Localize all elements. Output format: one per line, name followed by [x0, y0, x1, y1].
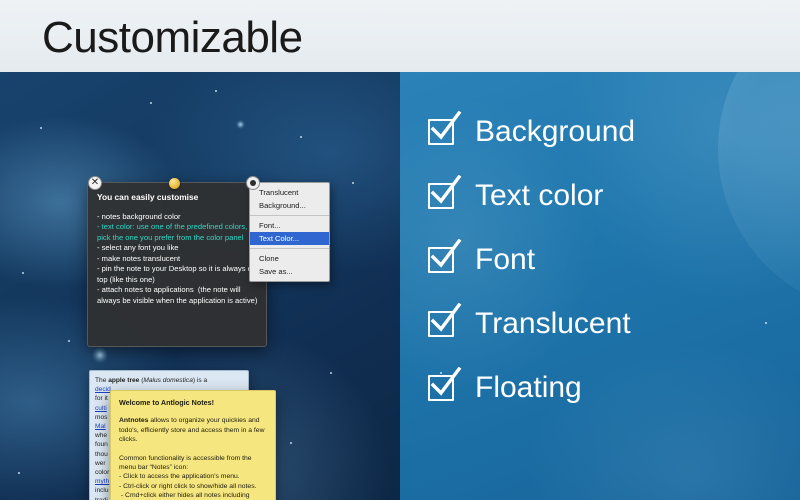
- yellow-note-title: Welcome to Antlogic Notes!: [119, 398, 267, 407]
- checklist-label: Translucent: [475, 307, 631, 341]
- checklist-item-floating[interactable]: Floating: [428, 356, 788, 420]
- bn-prefix: The: [95, 377, 108, 384]
- bn-suffix: ) is a: [193, 377, 207, 384]
- checklist-label: Background: [475, 115, 635, 149]
- checkbox-checked-icon[interactable]: [428, 247, 454, 273]
- checklist-label: Floating: [475, 371, 582, 405]
- yellow-note-paragraph: Antnotes allows to organize your quickie…: [119, 416, 267, 444]
- star-icon: [215, 90, 217, 92]
- menu-item-font[interactable]: Font...: [250, 219, 329, 232]
- menu-item-clone[interactable]: Clone: [250, 252, 329, 265]
- dark-note-window[interactable]: You can easily customise - notes backgro…: [87, 182, 267, 347]
- dark-note-title: You can easily customise: [97, 192, 258, 203]
- yellow-note-bullet: - Cmd+click either hides all notes inclu…: [119, 491, 267, 500]
- yellow-note-bullet: - Ctrl-click or right click to show/hide…: [119, 482, 267, 491]
- menu-item-text-color[interactable]: Text Color...: [250, 232, 329, 245]
- yellow-note-paragraph: Common functionality is accessible from …: [119, 454, 267, 473]
- bn-bold: apple tree: [108, 377, 139, 384]
- menu-item-save-as[interactable]: Save as...: [250, 265, 329, 278]
- yellow-note-window[interactable]: Welcome to Antlogic Notes! Antnotes allo…: [110, 390, 276, 500]
- gear-icon[interactable]: [246, 176, 260, 190]
- checklist-item-font[interactable]: Font: [428, 228, 788, 292]
- note-context-menu[interactable]: Translucent Background... Font... Text C…: [249, 182, 330, 282]
- dark-note-line: - attach notes to applications (the note…: [97, 285, 258, 306]
- star-icon: [150, 102, 152, 104]
- menu-item-background[interactable]: Background...: [250, 199, 329, 212]
- star-icon: [40, 127, 42, 129]
- checklist-label: Text color: [475, 179, 603, 213]
- star-glow-icon: [92, 347, 108, 363]
- dark-note-line: - notes background color: [97, 212, 258, 223]
- checklist-item-translucent[interactable]: Translucent: [428, 292, 788, 356]
- checkbox-checked-icon[interactable]: [428, 183, 454, 209]
- star-icon: [68, 340, 70, 342]
- checkbox-checked-icon[interactable]: [428, 119, 454, 145]
- star-glow-icon: [236, 120, 245, 129]
- yn-bold: Antnotes: [119, 417, 148, 424]
- checklist-item-text-color[interactable]: Text color: [428, 164, 788, 228]
- star-icon: [330, 372, 332, 374]
- stage: Background Text color Font: [0, 72, 800, 500]
- checkbox-checked-icon[interactable]: [428, 375, 454, 401]
- bn-italic: Malus domestica: [143, 377, 192, 384]
- blue-note-first-line: The apple tree (Malus domestica) is a: [95, 376, 243, 385]
- star-icon: [300, 136, 302, 138]
- yellow-note-bullet: - Click to access the application's menu…: [119, 472, 267, 481]
- checklist-label: Font: [475, 243, 535, 277]
- menu-item-translucent[interactable]: Translucent: [250, 186, 329, 199]
- app-window: Customizable: [0, 0, 800, 500]
- star-icon: [18, 472, 20, 474]
- star-icon: [22, 272, 24, 274]
- dark-note-line: - make notes translucent: [97, 254, 258, 265]
- menu-separator: [250, 248, 329, 249]
- dark-note-line: - text color: use one of the predefined …: [97, 222, 258, 243]
- dark-note-line: - pin the note to your Desktop so it is …: [97, 264, 258, 285]
- feature-checklist: Background Text color Font: [428, 100, 788, 420]
- gear-core: [250, 180, 256, 186]
- menu-separator: [250, 215, 329, 216]
- dark-note-line: - select any font you like: [97, 243, 258, 254]
- header-bar: Customizable: [0, 0, 800, 72]
- page-title: Customizable: [42, 13, 303, 63]
- checklist-item-background[interactable]: Background: [428, 100, 788, 164]
- pin-dot-icon[interactable]: [169, 178, 180, 189]
- star-icon: [290, 442, 292, 444]
- close-icon[interactable]: ✕: [88, 176, 102, 190]
- star-icon: [352, 182, 354, 184]
- checkbox-checked-icon[interactable]: [428, 311, 454, 337]
